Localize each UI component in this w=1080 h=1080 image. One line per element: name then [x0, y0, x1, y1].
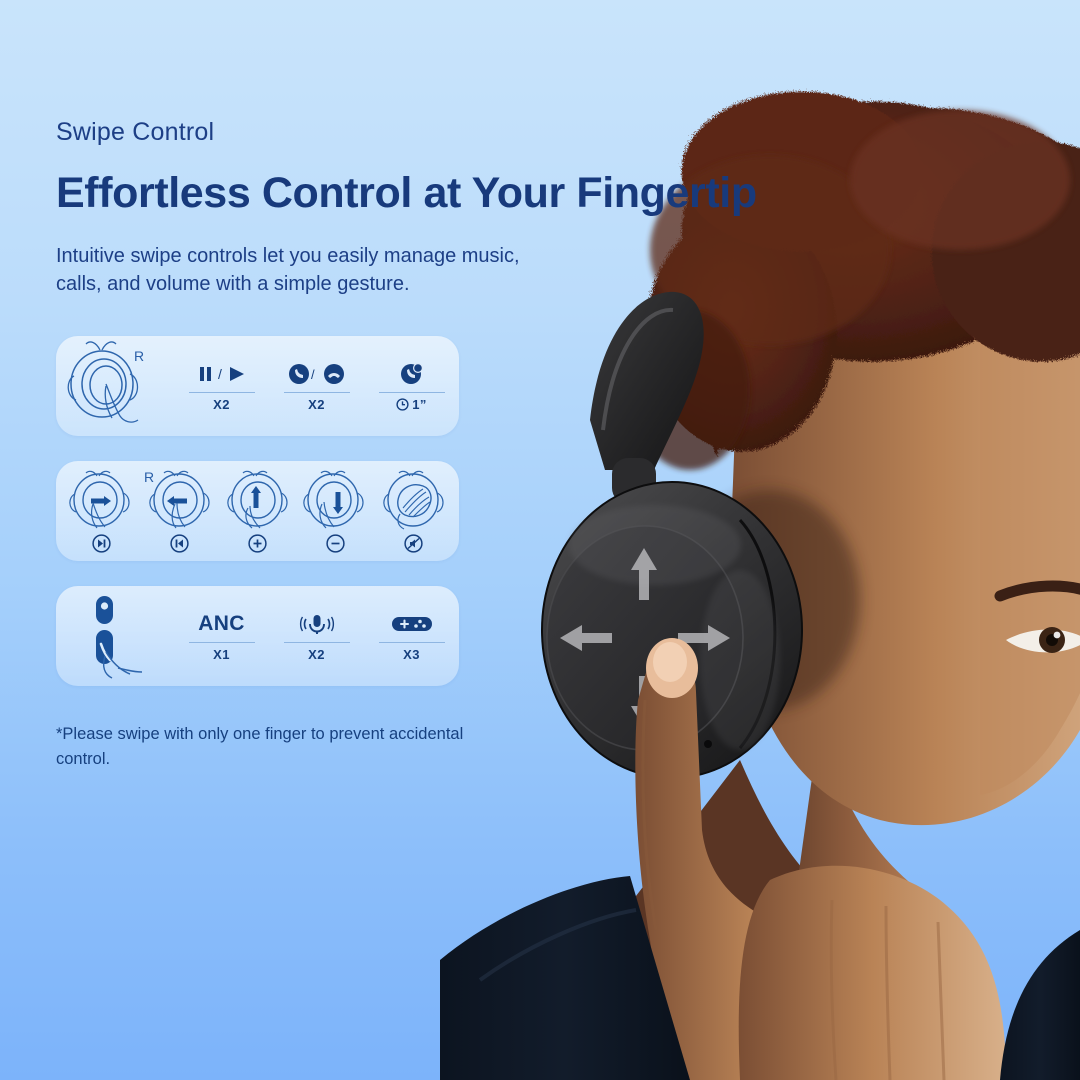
anc-control: ANC X1 [174, 611, 269, 662]
header-copy: Swipe Control Effortless Control at Your… [56, 118, 786, 299]
svg-text:/: / [311, 367, 315, 382]
clock-icon [396, 398, 409, 411]
voice-assistant-control: X2 [269, 611, 364, 662]
volume-up-icon [248, 534, 267, 553]
button-press-icon [56, 586, 174, 686]
play-pause-count: X2 [213, 397, 230, 412]
play-pause-control: / X2 [174, 361, 269, 412]
call-control: / X2 [269, 361, 364, 412]
anc-label: ANC [198, 612, 244, 636]
side-marker-r: R [144, 469, 154, 485]
eyebrow-label: Swipe Control [56, 118, 786, 147]
gamepad-icon [389, 613, 435, 635]
microphone-icon [297, 612, 337, 636]
subtitle-line-1: Intuitive swipe controls let you easily … [56, 242, 786, 270]
button-controls-card: ANC X1 X2 [56, 586, 459, 686]
next-track-icon [92, 534, 111, 553]
reject-call-icon [399, 362, 425, 386]
game-mode-control: X3 [364, 611, 459, 662]
earcup-swipe-down-icon [298, 470, 374, 532]
earcup-cover-palm-icon [376, 470, 452, 532]
reject-call-count: 1” [396, 397, 427, 412]
anc-count: X1 [213, 647, 230, 662]
footnote: *Please swipe with only one finger to pr… [56, 722, 476, 772]
game-mode-count: X3 [403, 647, 420, 662]
pause-play-icon: / [194, 364, 250, 384]
swipe-volume-down [297, 470, 375, 553]
swipe-mute [375, 470, 453, 553]
earcup-swipe-up-icon [220, 470, 296, 532]
earcup-swipe-right-icon [63, 470, 139, 532]
svg-text:/: / [218, 366, 222, 382]
call-count: X2 [308, 397, 325, 412]
subtitle-line-2: calls, and volume with a simple gesture. [56, 270, 786, 298]
reject-call-control: 1” [364, 361, 459, 412]
swipe-controls-card: R [56, 461, 459, 561]
voice-assistant-count: X2 [308, 647, 325, 662]
side-marker-r: R [134, 348, 144, 364]
earcup-tap-icon: R [56, 336, 174, 436]
page-title: Effortless Control at Your Fingertip [56, 169, 786, 218]
mute-icon [404, 534, 423, 553]
swipe-next-track [62, 470, 140, 553]
tap-controls-card: R / X2 / [56, 336, 459, 436]
subtitle: Intuitive swipe controls let you easily … [56, 242, 786, 299]
previous-track-icon [170, 534, 189, 553]
answer-hangup-call-icon: / [288, 363, 346, 385]
volume-down-icon [326, 534, 345, 553]
swipe-volume-up [218, 470, 296, 553]
